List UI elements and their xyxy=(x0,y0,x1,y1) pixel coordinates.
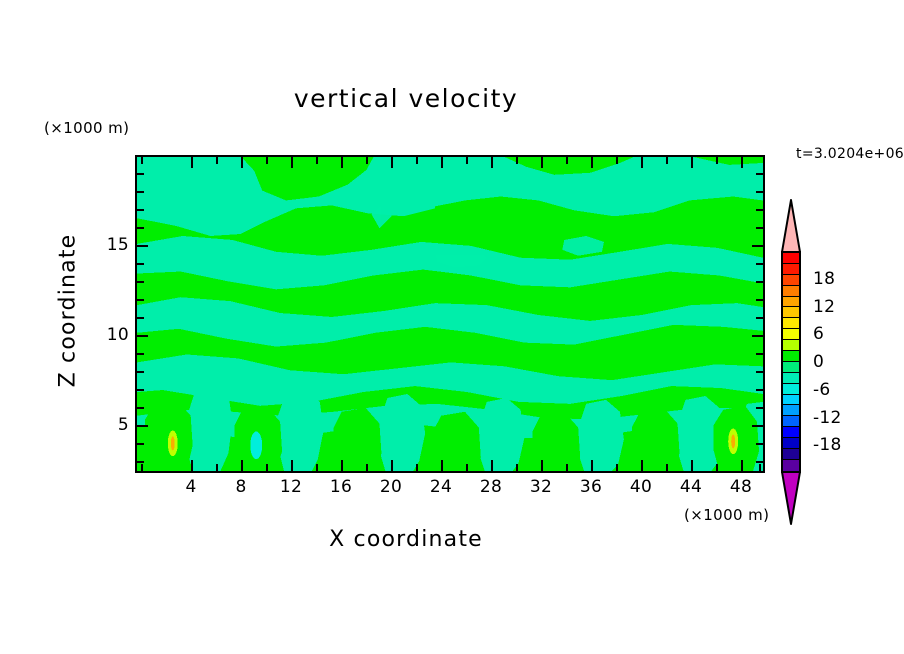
colorbar-band xyxy=(783,416,799,427)
y-axis-unit-label: (×1000 m) xyxy=(44,119,129,137)
colorbar-segments xyxy=(781,251,801,473)
y-tick-label: 15 xyxy=(107,235,129,255)
colorbar-tick-label: 18 xyxy=(813,269,835,289)
colorbar-band xyxy=(783,286,799,297)
colorbar-band xyxy=(783,384,799,395)
colorbar-tick-label: -12 xyxy=(813,408,842,428)
timestamp-annotation: t=3.0204e+06 xyxy=(796,146,904,162)
x-tick-label: 44 xyxy=(680,477,702,497)
colorbar-tick-label: 6 xyxy=(813,324,824,344)
x-axis-title-text: X coordinate xyxy=(329,527,483,552)
colorbar-band xyxy=(783,307,799,318)
colorbar-band xyxy=(783,297,799,308)
colorbar-band xyxy=(783,395,799,406)
colorbar-tick-label: -6 xyxy=(813,380,831,400)
colorbar-over-range-cap xyxy=(781,199,801,253)
colorbar: 181260-6-12-18 xyxy=(781,199,901,525)
plot-area: t=3.0204e+06 xyxy=(135,155,765,473)
colorbar-band xyxy=(783,449,799,460)
colorbar-under-range-cap xyxy=(781,471,801,525)
colorbar-tick-label: 0 xyxy=(813,352,824,372)
colorbar-band xyxy=(783,373,799,384)
contour-field xyxy=(137,157,763,471)
colorbar-band xyxy=(783,405,799,416)
colorbar-band xyxy=(783,340,799,351)
contour-plot-figure: vertical velocity (×1000 m) t=3.0204e+06 xyxy=(0,0,904,654)
y-axis-tick-labels: 5 10 15 xyxy=(85,155,129,473)
x-tick-label: 28 xyxy=(480,477,502,497)
x-axis-unit-label: (×1000 m) xyxy=(684,506,769,524)
x-axis-tick-labels: 4 8 12 16 20 24 28 32 36 40 44 48 xyxy=(135,477,765,501)
y-tick-label: 5 xyxy=(118,415,129,435)
colorbar-band xyxy=(783,253,799,264)
y-axis-title: Z coordinate xyxy=(56,181,81,441)
colorbar-band xyxy=(783,318,799,329)
x-tick-label: 36 xyxy=(580,477,602,497)
x-tick-label: 24 xyxy=(430,477,452,497)
x-tick-label: 48 xyxy=(730,477,752,497)
colorbar-tick-label: 12 xyxy=(813,297,835,317)
x-tick-label: 20 xyxy=(380,477,402,497)
y-tick-label: 10 xyxy=(107,325,129,345)
colorbar-band xyxy=(783,427,799,438)
colorbar-band xyxy=(783,329,799,340)
x-tick-label: 4 xyxy=(185,477,196,497)
x-tick-label: 16 xyxy=(330,477,352,497)
colorbar-band xyxy=(783,264,799,275)
x-tick-label: 8 xyxy=(235,477,246,497)
page-title: vertical velocity xyxy=(0,84,904,113)
colorbar-band xyxy=(783,362,799,373)
x-tick-label: 32 xyxy=(530,477,552,497)
colorbar-band xyxy=(783,275,799,286)
x-tick-label: 12 xyxy=(280,477,302,497)
colorbar-band xyxy=(783,460,799,471)
x-axis-title: X coordinate xyxy=(0,527,904,552)
colorbar-band xyxy=(783,438,799,449)
x-tick-label: 40 xyxy=(630,477,652,497)
colorbar-tick-label: -18 xyxy=(813,435,842,455)
colorbar-band xyxy=(783,351,799,362)
title-text: vertical velocity xyxy=(294,84,518,113)
colorbar-tick-labels: 181260-6-12-18 xyxy=(813,251,893,473)
plot-frame xyxy=(135,155,765,473)
